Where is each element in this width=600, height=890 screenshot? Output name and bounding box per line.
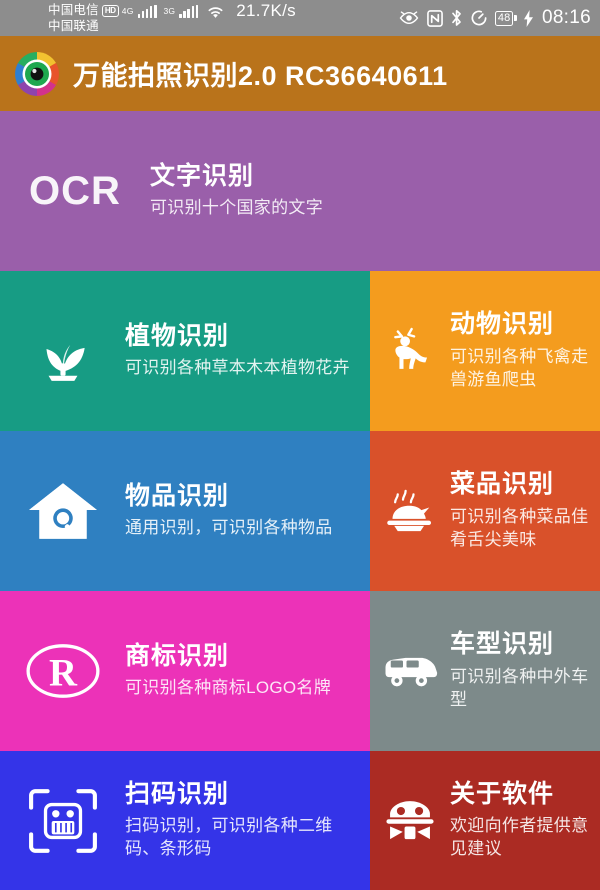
card-plant-title: 植物识别 [125, 322, 364, 351]
grid-row-4: R 商标识别 可识别各种商标LOGO名牌 [0, 591, 600, 751]
card-car-text: 车型识别 可识别各种中外车型 [450, 630, 600, 712]
card-trademark-desc: 可识别各种商标LOGO名牌 [125, 677, 364, 700]
carrier-secondary-row: 中国联通 [48, 20, 296, 34]
card-car[interactable]: 车型识别 可识别各种中外车型 [370, 591, 600, 751]
card-dish-title: 菜品识别 [450, 470, 594, 499]
grid-row-3: 物品识别 通用识别，可识别各种物品 菜品识别 可识别各种菜品佳肴舌尖美味 [0, 431, 600, 591]
card-about-title: 关于软件 [450, 780, 594, 809]
carrier-primary-row: 中国电信 HD 4G 3G 21.7K/s [48, 2, 296, 20]
charging-bolt-icon [524, 10, 533, 27]
card-dish-text: 菜品识别 可识别各种菜品佳肴舌尖美味 [450, 470, 600, 552]
registered-trademark-icon: R [0, 640, 125, 702]
battery-level-label: 48 [495, 11, 514, 26]
carrier-info: 中国电信 HD 4G 3G 21.7K/s 中国联通 [48, 2, 296, 34]
card-qrcode-text: 扫码识别 扫码识别，可识别各种二维码、条形码 [125, 780, 370, 862]
app-header: 万能拍照识别2.0 RC36640611 [0, 36, 600, 111]
eye-icon [398, 10, 420, 26]
card-ocr[interactable]: OCR 文字识别 可识别十个国家的文字 [0, 111, 600, 271]
signal-bars-secondary-icon [179, 5, 198, 18]
qr-scan-icon [0, 787, 125, 855]
card-plant-desc: 可识别各种草本木本植物花卉 [125, 357, 364, 380]
card-car-desc: 可识别各种中外车型 [450, 666, 594, 712]
card-about-text: 关于软件 欢迎向作者提供意见建议 [450, 780, 600, 862]
card-object[interactable]: 物品识别 通用识别，可识别各种物品 [0, 431, 370, 591]
network-speed-label: 21.7K/s [236, 2, 296, 20]
card-plant[interactable]: 植物识别 可识别各种草本木本植物花卉 [0, 271, 370, 431]
card-trademark-text: 商标识别 可识别各种商标LOGO名牌 [125, 642, 370, 701]
iris-eye-logo-icon [10, 47, 64, 101]
battery-cap-icon [514, 15, 517, 21]
carrier-primary-label: 中国电信 [48, 4, 99, 18]
grid-row-2: 植物识别 可识别各种草本木本植物花卉 动物识别 可识别各种飞禽走兽游鱼爬虫 [0, 271, 600, 431]
carrier-secondary-label: 中国联通 [48, 20, 99, 34]
card-car-title: 车型识别 [450, 630, 594, 659]
app-title: 万能拍照识别2.0 RC36640611 [73, 54, 448, 93]
nfc-icon [427, 10, 443, 27]
card-animal-desc: 可识别各种飞禽走兽游鱼爬虫 [450, 346, 594, 392]
roast-dish-icon [370, 485, 450, 537]
card-about-desc: 欢迎向作者提供意见建议 [450, 815, 594, 861]
wifi-icon [206, 4, 225, 19]
card-animal-text: 动物识别 可识别各种飞禽走兽游鱼爬虫 [450, 310, 600, 392]
battery-indicator: 48 [495, 11, 517, 26]
card-object-title: 物品识别 [125, 482, 364, 511]
robot-icon [370, 797, 450, 845]
grid-row-1: OCR 文字识别 可识别十个国家的文字 [0, 111, 600, 271]
card-qrcode[interactable]: 扫码识别 扫码识别，可识别各种二维码、条形码 [0, 751, 370, 890]
bluetooth-icon [450, 9, 463, 27]
network-type-primary: 4G [122, 7, 134, 16]
network-type-secondary: 3G [164, 7, 176, 16]
house-search-icon [0, 478, 125, 544]
feature-grid: OCR 文字识别 可识别十个国家的文字 植物识别 可识别各种草本木 [0, 111, 600, 890]
card-ocr-desc: 可识别十个国家的文字 [150, 197, 594, 220]
van-icon [370, 651, 450, 691]
card-qrcode-title: 扫码识别 [125, 780, 364, 809]
ocr-icon-label: OCR [29, 169, 121, 214]
card-animal-title: 动物识别 [450, 310, 594, 339]
card-dish-desc: 可识别各种菜品佳肴舌尖美味 [450, 506, 594, 552]
ocr-text-icon: OCR [0, 169, 150, 214]
status-bar: 中国电信 HD 4G 3G 21.7K/s 中国联通 [0, 0, 600, 36]
card-qrcode-desc: 扫码识别，可识别各种二维码、条形码 [125, 815, 364, 861]
card-trademark[interactable]: R 商标识别 可识别各种商标LOGO名牌 [0, 591, 370, 751]
grid-row-5: 扫码识别 扫码识别，可识别各种二维码、条形码 关于软件 欢迎向作者提供意见建议 [0, 751, 600, 890]
card-animal[interactable]: 动物识别 可识别各种飞禽走兽游鱼爬虫 [370, 271, 600, 431]
deer-icon [370, 325, 450, 377]
svg-text:R: R [49, 652, 78, 695]
card-trademark-title: 商标识别 [125, 642, 364, 671]
do-not-disturb-icon [470, 9, 488, 27]
card-plant-text: 植物识别 可识别各种草本木本植物花卉 [125, 322, 370, 381]
hd-badge: HD [102, 5, 119, 18]
card-ocr-title: 文字识别 [150, 162, 594, 191]
card-ocr-text: 文字识别 可识别十个国家的文字 [150, 162, 600, 221]
signal-bars-primary-icon [138, 5, 157, 18]
card-object-text: 物品识别 通用识别，可识别各种物品 [125, 482, 370, 541]
clock-label: 08:16 [542, 7, 591, 29]
card-about[interactable]: 关于软件 欢迎向作者提供意见建议 [370, 751, 600, 890]
card-dish[interactable]: 菜品识别 可识别各种菜品佳肴舌尖美味 [370, 431, 600, 591]
sprout-icon [0, 318, 125, 384]
status-icons: 48 08:16 [398, 0, 591, 36]
card-object-desc: 通用识别，可识别各种物品 [125, 517, 364, 540]
